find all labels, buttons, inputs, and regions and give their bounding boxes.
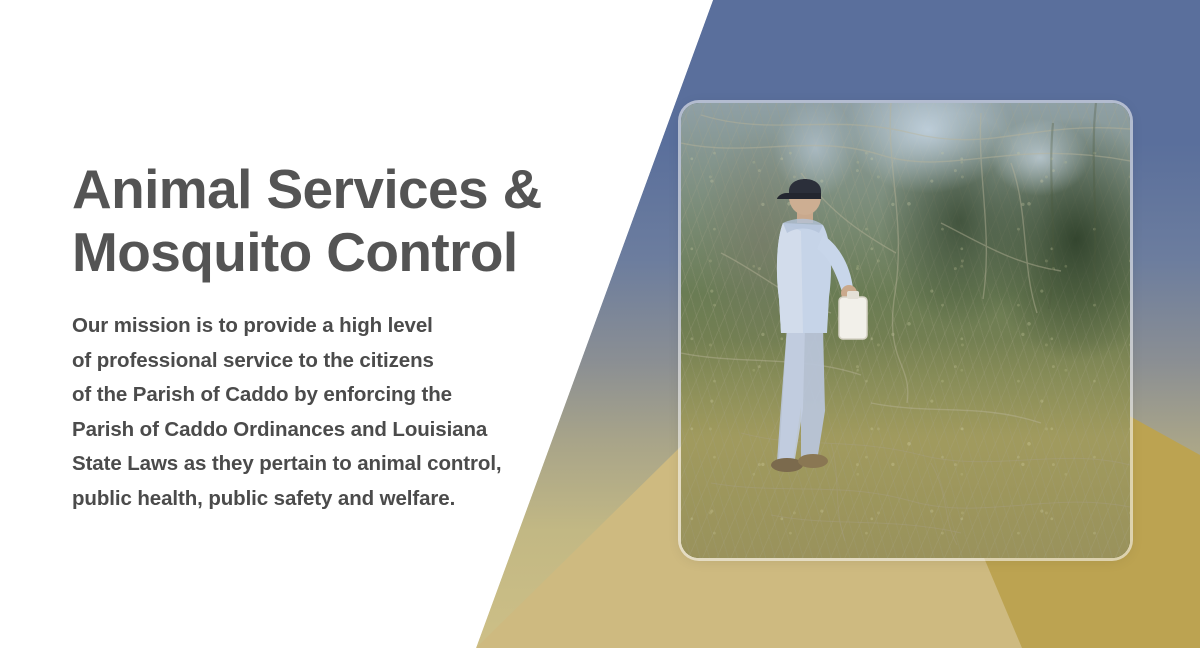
cap-icon xyxy=(789,179,821,195)
worker-figure-icon xyxy=(743,161,875,491)
hero-banner: Animal Services & Mosquito Control Our m… xyxy=(0,0,1200,648)
copy-block: Animal Services & Mosquito Control Our m… xyxy=(72,158,612,516)
mission-statement: Our mission is to provide a high level o… xyxy=(72,309,612,516)
page-title: Animal Services & Mosquito Control xyxy=(72,158,612,283)
hero-photo-card xyxy=(681,103,1130,558)
bait-container-icon xyxy=(839,297,867,339)
